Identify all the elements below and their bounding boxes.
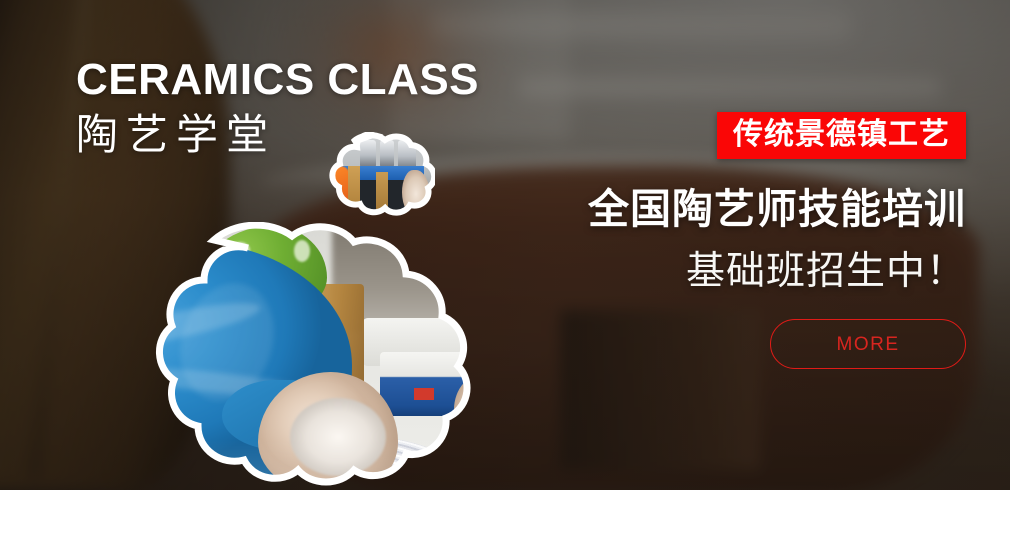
headline-english: CERAMICS CLASS: [76, 56, 479, 104]
promo-tagline-secondary: 基础班招生中！: [406, 249, 966, 295]
promo-tagline-primary: 全国陶艺师技能培训: [406, 185, 966, 233]
ceramics-class-banner: CERAMICS CLASS 陶艺学堂 传统景德镇工艺 全国陶艺师技能培训 基础…: [0, 0, 1010, 538]
promo-block: 传统景德镇工艺 全国陶艺师技能培训 基础班招生中！ MORE: [406, 112, 966, 369]
scene-machine-label: [414, 388, 434, 400]
cloud-bottom-fade: [62, 440, 522, 526]
status-badge: 传统景德镇工艺: [717, 112, 966, 159]
wooden-post: [348, 166, 360, 218]
child-hood-pattern: [294, 240, 310, 262]
more-button[interactable]: MORE: [770, 319, 966, 369]
